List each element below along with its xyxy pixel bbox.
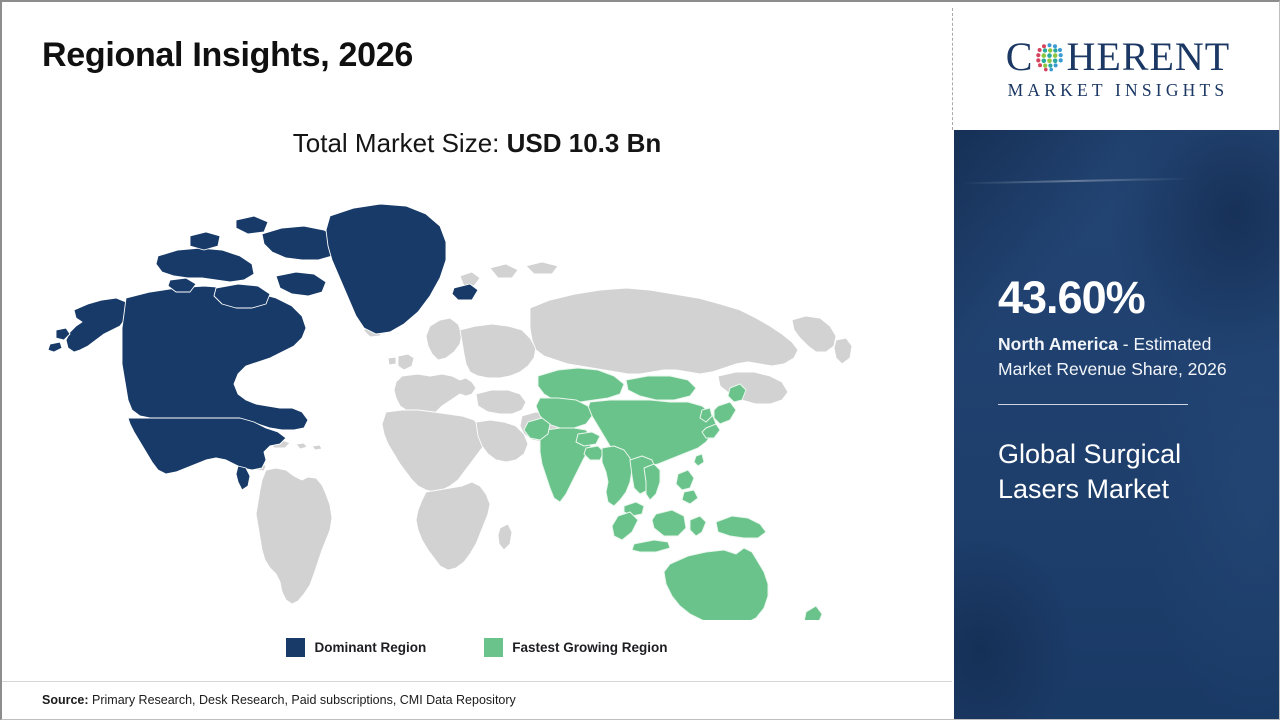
map-legend: Dominant Region Fastest Growing Region <box>2 638 952 657</box>
legend-swatch-dominant <box>286 638 305 657</box>
source-text: Primary Research, Desk Research, Paid su… <box>89 693 516 707</box>
logo-wordmark: C <box>1006 37 1230 77</box>
world-map-container <box>30 180 890 620</box>
regional-stat-panel: 43.60% North America - Estimated Market … <box>954 130 1280 720</box>
source-label: Source: <box>42 693 89 707</box>
revenue-share-caption: North America - Estimated Market Revenue… <box>998 332 1246 382</box>
legend-item-dominant: Dominant Region <box>286 638 426 657</box>
revenue-share-value: 43.60% <box>998 275 1246 320</box>
map-fastest-growing-region <box>524 368 828 620</box>
vertical-divider <box>952 8 953 130</box>
left-content-pane: Regional Insights, 2026 Total Market Siz… <box>2 2 952 720</box>
total-market-size-label: Total Market Size: <box>293 128 507 158</box>
page-title: Regional Insights, 2026 <box>42 36 413 75</box>
panel-rule <box>998 404 1188 406</box>
legend-label-dominant: Dominant Region <box>314 640 426 655</box>
logo-letter-c: C <box>1006 37 1034 77</box>
legend-label-fastest-growing: Fastest Growing Region <box>512 640 667 655</box>
coherent-market-insights-logo: C <box>962 16 1274 120</box>
source-note: Source: Primary Research, Desk Research,… <box>42 693 516 707</box>
globe-dots-icon <box>1034 41 1065 72</box>
total-market-size-value: USD 10.3 Bn <box>507 128 662 158</box>
logo-letters-herent: HERENT <box>1066 37 1230 77</box>
legend-item-fastest-growing: Fastest Growing Region <box>484 638 667 657</box>
total-market-size: Total Market Size: USD 10.3 Bn <box>2 128 952 159</box>
legend-swatch-fastest-growing <box>484 638 503 657</box>
revenue-share-region: North America <box>998 334 1118 354</box>
infographic-slide: Regional Insights, 2026 Total Market Siz… <box>0 0 1280 720</box>
panel-content: 43.60% North America - Estimated Market … <box>954 130 1280 507</box>
world-map <box>30 180 890 620</box>
logo-subtitle: MARKET INSIGHTS <box>1008 82 1229 100</box>
source-divider <box>2 681 952 682</box>
market-name: Global Surgical Lasers Market <box>998 437 1244 507</box>
